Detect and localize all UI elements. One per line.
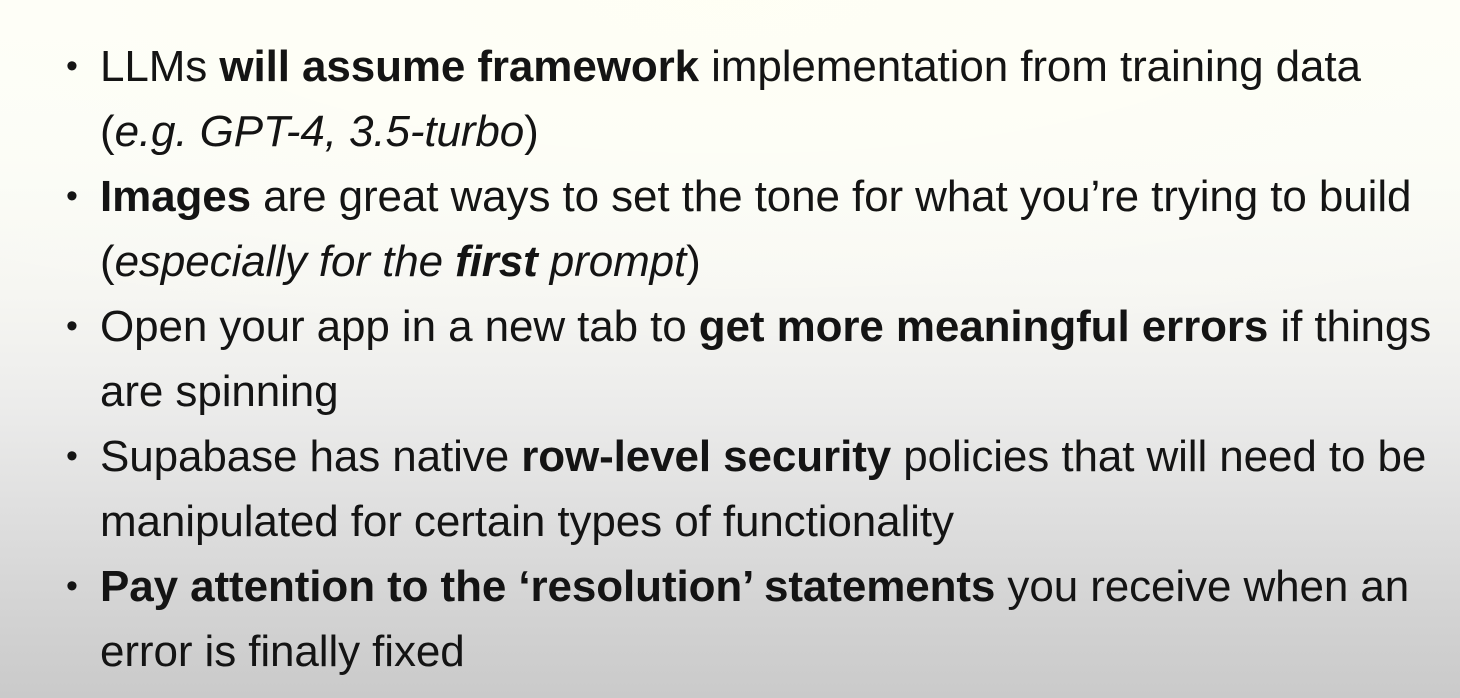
- text-run: row-level security: [521, 432, 891, 481]
- text-run: get more meaningful errors: [699, 302, 1269, 351]
- text-run: Images: [100, 172, 251, 221]
- bullet-point-icon: •: [66, 34, 90, 99]
- list-item: •Open your app in a new tab to get more …: [66, 294, 1442, 424]
- list-item-text: Open your app in a new tab to get more m…: [100, 294, 1442, 424]
- bullet-point-icon: •: [66, 294, 90, 359]
- text-run: ): [686, 237, 701, 286]
- list-item-text: Supabase has native row-level security p…: [100, 424, 1442, 554]
- slide-canvas: •LLMs will assume framework implementati…: [0, 0, 1460, 698]
- list-item-text: Images are great ways to set the tone fo…: [100, 164, 1442, 294]
- list-item: •LLMs will assume framework implementati…: [66, 34, 1442, 164]
- list-item: •Images are great ways to set the tone f…: [66, 164, 1442, 294]
- bullet-point-icon: •: [66, 424, 90, 489]
- text-run: Supabase has native: [100, 432, 521, 481]
- text-run: prompt: [538, 237, 686, 286]
- list-item: •Pay attention to the ‘resolution’ state…: [66, 554, 1442, 684]
- text-run: will assume framework: [219, 42, 699, 91]
- text-run: Open your app in a new tab to: [100, 302, 699, 351]
- text-run: first: [455, 237, 538, 286]
- list-item-text: Pay attention to the ‘resolution’ statem…: [100, 554, 1442, 684]
- text-run: Pay attention to the ‘resolution’ statem…: [100, 562, 995, 611]
- bullet-point-icon: •: [66, 554, 90, 619]
- text-run: ): [524, 107, 539, 156]
- list-item: •Supabase has native row-level security …: [66, 424, 1442, 554]
- bullet-point-icon: •: [66, 164, 90, 229]
- text-run: e.g. GPT-4, 3.5-turbo: [115, 107, 525, 156]
- text-run: LLMs: [100, 42, 219, 91]
- text-run: especially for the: [115, 237, 456, 286]
- bullet-list: •LLMs will assume framework implementati…: [0, 0, 1460, 684]
- list-item-text: LLMs will assume framework implementatio…: [100, 34, 1442, 164]
